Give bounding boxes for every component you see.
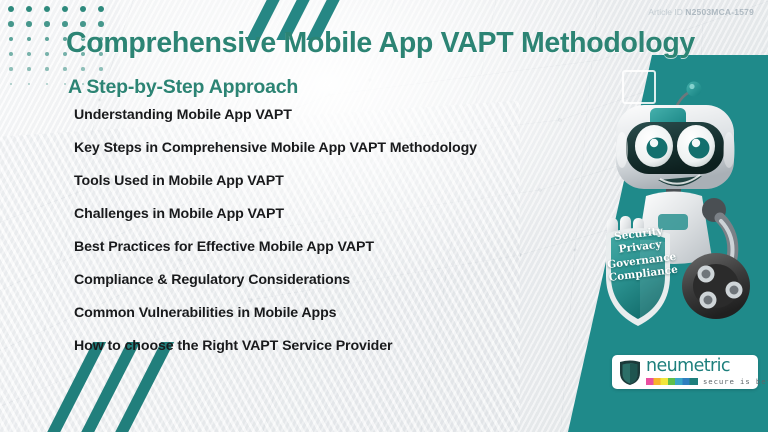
robot-wheel [682, 253, 750, 319]
shield-logo-icon [618, 359, 642, 386]
logo-wordmark: neumetric [646, 358, 768, 376]
antenna-ball [687, 82, 702, 97]
logo-tagline-row: secure is better [646, 377, 768, 386]
logo-tagline: secure is better [703, 377, 768, 386]
page-title: Comprehensive Mobile App VAPT Methodolog… [66, 27, 695, 60]
rainbow-bar-icon [646, 378, 698, 385]
security-shield [606, 228, 670, 326]
robot-mascot-illustration [588, 78, 768, 338]
list-item[interactable]: Understanding Mobile App VAPT [74, 108, 554, 122]
logo-text-block: neumetric secure is better [646, 358, 768, 387]
toc-list: Understanding Mobile App VAPT Key Steps … [74, 108, 554, 372]
list-item[interactable]: Compliance & Regulatory Considerations [74, 273, 554, 287]
list-item[interactable]: Tools Used in Mobile App VAPT [74, 174, 554, 188]
list-item[interactable]: How to choose the Right VAPT Service Pro… [74, 339, 554, 353]
page-subtitle: A Step-by-Step Approach [68, 76, 298, 99]
list-item[interactable]: Key Steps in Comprehensive Mobile App VA… [74, 141, 554, 155]
list-item[interactable]: Challenges in Mobile App VAPT [74, 207, 554, 221]
article-id-label: Article ID [648, 7, 682, 17]
article-id: Article ID N2503MCA-1579 [648, 7, 754, 17]
neumetric-logo[interactable]: neumetric secure is better [612, 355, 758, 389]
article-id-value: N2503MCA-1579 [685, 7, 754, 17]
slide-canvas: Comprehensive Mobile App VAPT Methodolog… [0, 0, 768, 432]
list-item[interactable]: Best Practices for Effective Mobile App … [74, 240, 554, 254]
list-item[interactable]: Common Vulnerabilities in Mobile Apps [74, 306, 554, 320]
